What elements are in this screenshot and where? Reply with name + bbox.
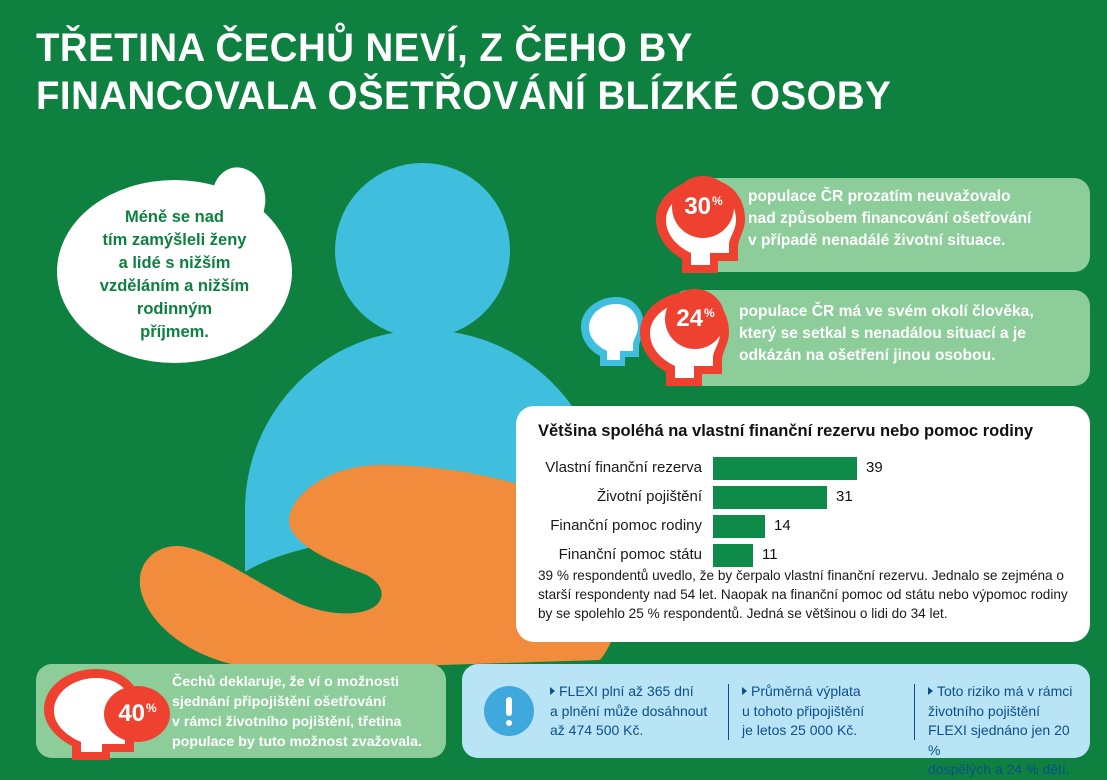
bar-label: Finanční pomoc rodiny bbox=[516, 517, 702, 534]
percent-sign: % bbox=[704, 307, 715, 319]
stat-line: v případě nenadálé životní situace. bbox=[748, 230, 1088, 252]
footer-col-1: FLEXI plní až 365 dní a plnění může dosá… bbox=[550, 682, 726, 741]
percent-value: 24 bbox=[676, 307, 703, 331]
stat-line: populace by tuto možnost zvažovala. bbox=[172, 732, 438, 752]
bar-label: Vlastní finanční rezerva bbox=[516, 459, 702, 476]
bubble-line: vzděláním a nižším bbox=[77, 275, 272, 298]
page-title: TŘETINA ČECHŮ NEVÍ, Z ČEHO BY FINANCOVAL… bbox=[36, 24, 1054, 120]
bar-fill bbox=[713, 486, 827, 509]
footer-line: je letos 25 000 Kč. bbox=[742, 721, 912, 741]
footer-text: Toto riziko má v rámci bbox=[937, 683, 1072, 699]
bubble-line: rodinným bbox=[77, 298, 272, 321]
footer-col-2: Průměrná výplata u tohoto připojištění j… bbox=[742, 682, 912, 741]
percent-badge-40: 40% bbox=[104, 686, 170, 742]
stat-text-30: populace ČR prozatím neuvažovalo nad způ… bbox=[748, 186, 1088, 252]
speech-bubble-text: Méně se nad tím zamýšleli ženy a lidé s … bbox=[77, 206, 272, 344]
footer-line: životního pojištění bbox=[928, 702, 1080, 722]
bar-fill bbox=[713, 457, 857, 480]
percent-badge-24: 24% bbox=[665, 289, 725, 349]
infographic-canvas: TŘETINA ČECHŮ NEVÍ, Z ČEHO BY FINANCOVAL… bbox=[0, 0, 1107, 777]
exclamation-circle-icon bbox=[484, 686, 534, 736]
footer-divider bbox=[914, 684, 915, 740]
person-head-icon bbox=[335, 163, 510, 338]
footer-line: a plnění může dosáhnout bbox=[550, 702, 726, 722]
percent-badge-30: 30% bbox=[672, 176, 734, 238]
bar-chart: Vlastní finanční rezerva 39 Životní poji… bbox=[516, 456, 1090, 566]
triangle-bullet-icon bbox=[550, 687, 555, 695]
footer-text: FLEXI plní až 365 dní bbox=[559, 683, 694, 699]
stat-line: Čechů deklaruje, že ví o možnosti bbox=[172, 672, 438, 692]
footer-line: u tohoto připojištění bbox=[742, 702, 912, 722]
footer-text: Průměrná výplata bbox=[751, 683, 861, 699]
chart-note: 39 % respondentů uvedlo, že by čerpalo v… bbox=[538, 566, 1072, 623]
title-line-2: FINANCOVALA OŠETŘOVÁNÍ BLÍZKÉ OSOBY bbox=[36, 72, 1054, 120]
bar-value: 14 bbox=[774, 517, 791, 534]
footer-line: Průměrná výplata bbox=[742, 682, 912, 702]
percent-sign: % bbox=[146, 702, 157, 714]
footer-line: FLEXI sjednáno jen 20 % bbox=[928, 721, 1080, 760]
bar-row: Vlastní finanční rezerva 39 bbox=[516, 456, 1090, 482]
stat-line: nad způsobem financování ošetřování bbox=[748, 208, 1088, 230]
footer-divider bbox=[728, 684, 729, 740]
stat-line: populace ČR má ve svém okolí člověka, bbox=[739, 301, 1091, 323]
stat-text-40: Čechů deklaruje, že ví o možnosti sjedná… bbox=[172, 672, 438, 752]
bubble-line: a lidé s nižším bbox=[77, 252, 272, 275]
stat-line: který se setkal s nenadálou situací a je bbox=[739, 323, 1091, 345]
bar-value: 11 bbox=[762, 546, 778, 563]
bar-row: Finanční pomoc rodiny 14 bbox=[516, 514, 1090, 540]
bar-label: Životní pojištění bbox=[516, 488, 702, 505]
speech-bubble: Méně se nad tím zamýšleli ženy a lidé s … bbox=[57, 168, 292, 363]
chart-card: Většina spoléhá na vlastní finanční reze… bbox=[516, 406, 1090, 642]
percent-value: 40 bbox=[118, 702, 145, 726]
bar-value: 31 bbox=[836, 488, 853, 505]
triangle-bullet-icon bbox=[742, 687, 747, 695]
footer-line: až 474 500 Kč. bbox=[550, 721, 726, 741]
footer-line: FLEXI plní až 365 dní bbox=[550, 682, 726, 702]
bubble-line: Méně se nad bbox=[77, 206, 272, 229]
footer-col-3: Toto riziko má v rámci životního pojiště… bbox=[928, 682, 1080, 780]
bubble-line: tím zamýšleli ženy bbox=[77, 229, 272, 252]
triangle-bullet-icon bbox=[928, 687, 933, 695]
chart-title: Většina spoléhá na vlastní finanční reze… bbox=[538, 422, 1078, 441]
bar-fill bbox=[713, 544, 753, 567]
percent-value: 30 bbox=[684, 195, 711, 219]
footer-info-bar: FLEXI plní až 365 dní a plnění může dosá… bbox=[462, 664, 1090, 758]
footer-line: Toto riziko má v rámci bbox=[928, 682, 1080, 702]
stat-line: sjednání připojištění ošetřování bbox=[172, 692, 438, 712]
bar-value: 39 bbox=[866, 459, 883, 476]
stat-line: populace ČR prozatím neuvažovalo bbox=[748, 186, 1088, 208]
bar-label: Finanční pomoc státu bbox=[516, 546, 702, 563]
bar-row: Životní pojištění 31 bbox=[516, 485, 1090, 511]
stat-text-24: populace ČR má ve svém okolí člověka, kt… bbox=[739, 301, 1091, 367]
title-line-1: TŘETINA ČECHŮ NEVÍ, Z ČEHO BY bbox=[36, 24, 1054, 72]
bubble-line: příjmem. bbox=[77, 321, 272, 344]
stat-line: odkázán na ošetření jinou osobou. bbox=[739, 345, 1091, 367]
percent-sign: % bbox=[712, 195, 723, 207]
bar-fill bbox=[713, 515, 765, 538]
stat-line: v rámci životního pojištění, třetina bbox=[172, 712, 438, 732]
